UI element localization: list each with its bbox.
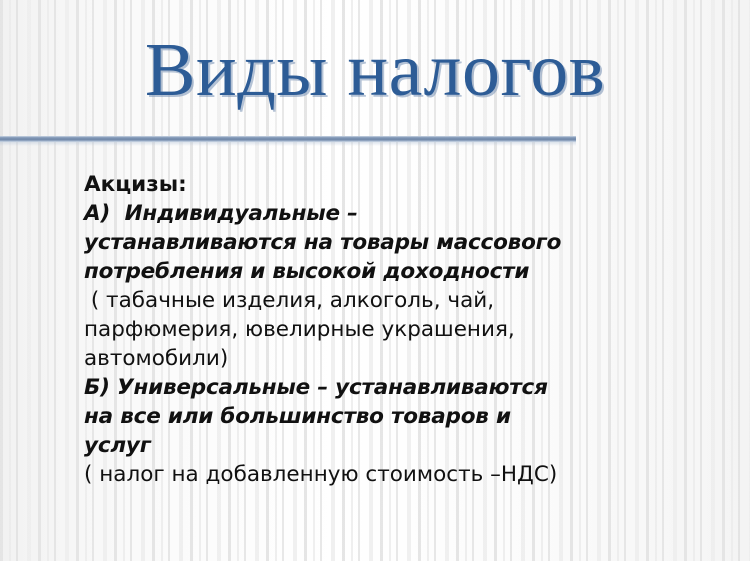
body-line: на все или большинство товаров и — [84, 402, 684, 431]
body-line: услуг — [84, 431, 684, 460]
body-line: ( налог на добавленную стоимость –НДС) — [84, 460, 684, 489]
body-text-block: Акцизы: А) Индивидуальные – устанавливаю… — [84, 170, 684, 489]
presentation-slide: Виды налогов Акцизы: А) Индивидуальные –… — [0, 0, 750, 561]
body-line: автомобили) — [84, 344, 684, 373]
body-line: ( табачные изделия, алкоголь, чай, — [84, 286, 684, 315]
page-title: Виды налогов — [0, 24, 750, 116]
body-line: парфюмерия, ювелирные украшения, — [84, 315, 684, 344]
body-line: потребления и высокой доходности — [84, 257, 684, 286]
body-line: устанавливаются на товары массового — [84, 228, 684, 257]
body-line: Акцизы: — [84, 170, 684, 199]
title-divider-shadow — [0, 142, 576, 146]
body-line: Б) Универсальные – устанавливаются — [84, 373, 684, 402]
body-line: А) Индивидуальные – — [84, 199, 684, 228]
